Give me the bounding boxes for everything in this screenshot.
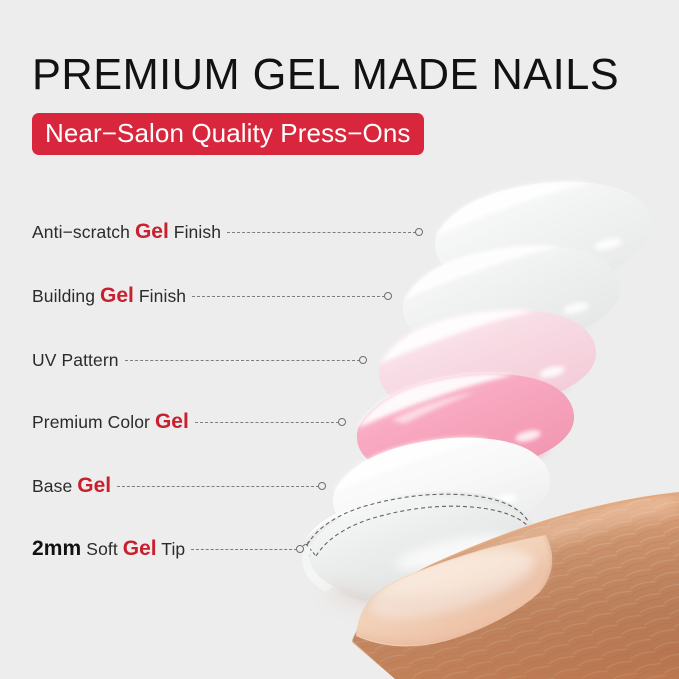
- page-title: PREMIUM GEL MADE NAILS: [32, 50, 619, 100]
- leader-dash: [191, 549, 297, 550]
- callout-building-gel-finish: Building Gel Finish: [32, 281, 392, 311]
- infographic-page: PREMIUM GEL MADE NAILS Near−Salon Qualit…: [0, 0, 679, 679]
- subtitle-badge: Near−Salon Quality Press−Ons: [32, 113, 424, 155]
- leader-endpoint-dot: [338, 418, 346, 426]
- nail-layer-stack-illustration: [0, 0, 679, 679]
- leader-dash: [192, 296, 385, 297]
- callout-anti-scratch-gel-finish: Anti−scratch Gel Finish: [32, 217, 423, 247]
- leader-endpoint-dot: [359, 356, 367, 364]
- leader-dash: [195, 422, 339, 423]
- leader-endpoint-dot: [296, 545, 304, 553]
- callout-label-building: Building Gel Finish: [32, 286, 186, 306]
- callout-label-base-gel: Base Gel: [32, 476, 111, 496]
- callout-label-soft-gel-tip: 2mm Soft Gel Tip: [32, 539, 185, 559]
- callout-premium-color-gel: Premium Color Gel: [32, 407, 346, 437]
- leader-dash: [117, 486, 319, 487]
- callout-label-premium-color: Premium Color Gel: [32, 412, 189, 432]
- leader-endpoint-dot: [415, 228, 423, 236]
- leader-line-base-gel: [111, 480, 326, 492]
- callout-base-gel: Base Gel: [32, 471, 326, 501]
- callout-label-uv-pattern: UV Pattern: [32, 350, 119, 370]
- leader-dash: [125, 360, 360, 361]
- callout-label-anti-scratch: Anti−scratch Gel Finish: [32, 222, 221, 242]
- leader-line-uv-pattern: [119, 354, 367, 366]
- leader-dash: [227, 232, 416, 233]
- leader-line-premium-color: [189, 416, 346, 428]
- leader-endpoint-dot: [384, 292, 392, 300]
- leader-line-anti-scratch: [221, 226, 423, 238]
- leader-line-soft-gel-tip: [185, 543, 304, 555]
- leader-line-building: [186, 290, 392, 302]
- leader-endpoint-dot: [318, 482, 326, 490]
- callout-soft-gel-tip: 2mm Soft Gel Tip: [32, 534, 304, 564]
- callout-uv-pattern: UV Pattern: [32, 345, 367, 375]
